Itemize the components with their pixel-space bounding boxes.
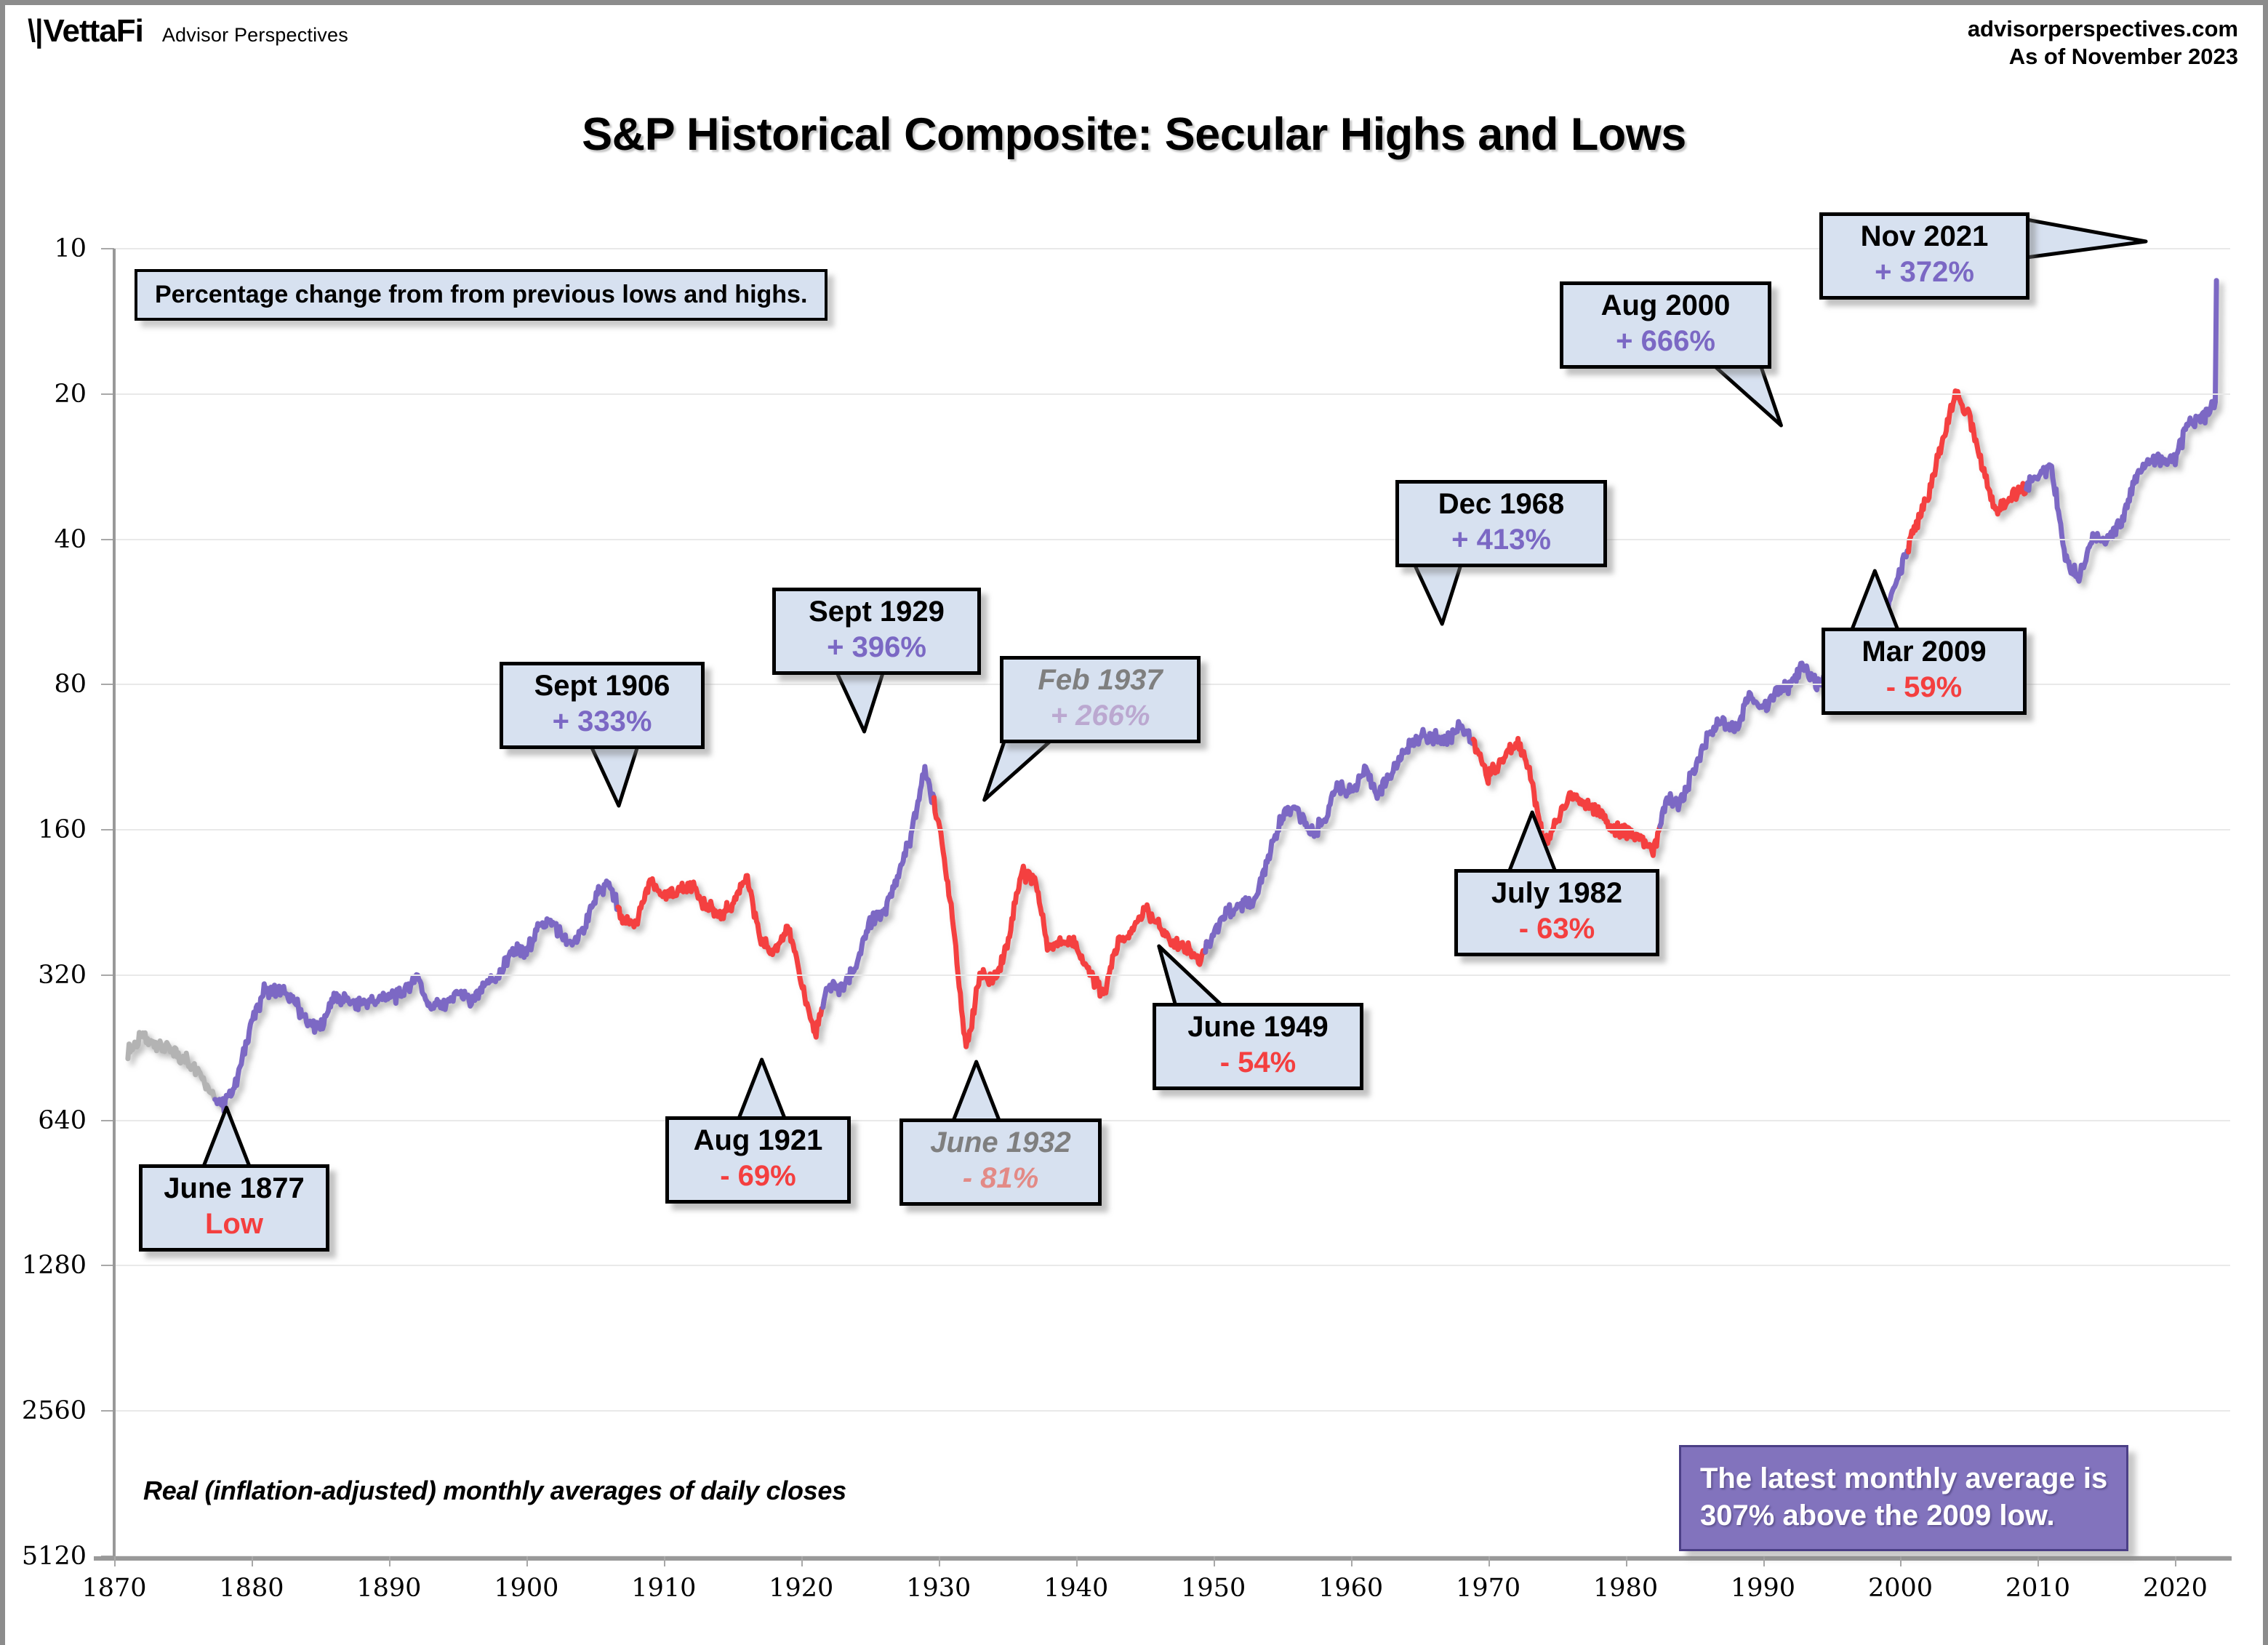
gridline <box>114 393 2230 395</box>
callout-value: + 666% <box>1575 325 1756 358</box>
x-axis-label: 1970 <box>1456 1574 1520 1603</box>
callout-date: Nov 2021 <box>1835 220 2014 253</box>
x-tick <box>664 1556 665 1566</box>
callout-value: + 372% <box>1835 256 2014 289</box>
y-axis-label: 5120 <box>22 1542 87 1571</box>
callout-june-1877: June 1877Low <box>139 1164 329 1252</box>
x-tick <box>114 1556 116 1566</box>
gridline <box>114 1265 2230 1266</box>
x-tick <box>1900 1556 1902 1566</box>
y-axis-label: 40 <box>54 525 87 554</box>
x-tick <box>2175 1556 2176 1566</box>
callout-date: Sept 1929 <box>788 596 966 628</box>
page-title: S&P Historical Composite: Secular Highs … <box>5 108 2263 161</box>
gridline <box>114 1120 2230 1121</box>
x-axis-label: 2000 <box>1868 1574 1933 1603</box>
series-segment-bull <box>1206 721 1475 952</box>
callout-july-1982: July 1982- 63% <box>1454 869 1659 956</box>
x-axis-label: 1960 <box>1318 1574 1383 1603</box>
x-axis-label: 2010 <box>2005 1574 2070 1603</box>
site-url: advisorperspectives.com <box>1968 15 2238 43</box>
legend-note: Percentage change from from previous low… <box>135 269 828 321</box>
callout-value: - 63% <box>1470 913 1644 945</box>
callout-date: June 1877 <box>154 1172 314 1205</box>
x-tick <box>1214 1556 1215 1566</box>
vettafi-logo: \|VettaFi <box>27 15 143 47</box>
x-axis-label: 1920 <box>769 1574 833 1603</box>
y-axis-label: 80 <box>54 670 87 699</box>
x-axis-label: 1950 <box>1181 1574 1246 1603</box>
x-tick <box>1763 1556 1765 1566</box>
x-axis-label: 2020 <box>2143 1574 2208 1603</box>
as-of-date: As of November 2023 <box>1968 43 2238 71</box>
price-series-svg <box>114 249 2230 1556</box>
callout-value: - 54% <box>1168 1046 1348 1079</box>
x-axis-label: 1890 <box>356 1574 421 1603</box>
series-segment-bull <box>2027 281 2216 582</box>
x-axis-label: 1910 <box>631 1574 696 1603</box>
callout-aug-1921: Aug 1921- 69% <box>665 1116 851 1204</box>
callout-date: Dec 1968 <box>1411 488 1592 521</box>
y-axis-label: 160 <box>38 815 87 844</box>
callout-sept-1929: Sept 1929+ 396% <box>772 588 981 675</box>
advisor-perspectives-label: Advisor Perspectives <box>162 24 348 47</box>
y-axis-label: 640 <box>38 1106 87 1135</box>
x-tick <box>1076 1556 1078 1566</box>
y-axis-line <box>113 249 116 1556</box>
callout-date: Aug 1921 <box>681 1124 836 1157</box>
callout-value: - 81% <box>915 1162 1086 1195</box>
callout-mar-2009: Mar 2009- 59% <box>1822 628 2027 715</box>
callout-date: Feb 1937 <box>1015 664 1185 697</box>
gridline <box>114 974 2230 976</box>
x-axis-label: 1980 <box>1593 1574 1658 1603</box>
summary-line-2: 307% above the 2009 low. <box>1700 1497 2107 1534</box>
x-tick <box>939 1556 940 1566</box>
vettafi-logo-text: VettaFi <box>44 13 143 49</box>
callout-value: + 396% <box>788 631 966 664</box>
series-segment-bull <box>215 881 620 1112</box>
gridline <box>114 1410 2230 1412</box>
callout-value: Low <box>154 1208 314 1241</box>
x-tick <box>1626 1556 1627 1566</box>
chart-plot-area: 51202560128064032016080402010 1870188018… <box>114 249 2230 1556</box>
callout-date: Aug 2000 <box>1575 289 1756 322</box>
callout-date: Sept 1906 <box>515 670 689 703</box>
gridline <box>114 829 2230 830</box>
y-axis-label: 10 <box>54 234 87 263</box>
callout-june-1949: June 1949- 54% <box>1153 1003 1363 1090</box>
x-tick <box>526 1556 528 1566</box>
x-axis-label: 1990 <box>1731 1574 1795 1603</box>
series-segment-bear <box>1909 391 2028 552</box>
brand: \|VettaFi Advisor Perspectives <box>27 15 348 47</box>
x-axis-label: 1870 <box>81 1574 146 1603</box>
callout-value: - 69% <box>681 1160 836 1193</box>
summary-box: The latest monthly average is 307% above… <box>1679 1445 2128 1551</box>
x-tick <box>1488 1556 1490 1566</box>
callout-feb-1937: Feb 1937+ 266% <box>1000 656 1201 743</box>
series-segment-bear <box>1473 739 1661 856</box>
source-block: advisorperspectives.com As of November 2… <box>1968 15 2238 71</box>
x-tick <box>1351 1556 1353 1566</box>
callout-june-1932: June 1932- 81% <box>899 1118 1102 1206</box>
callout-date: June 1949 <box>1168 1011 1348 1044</box>
callout-sept-1906: Sept 1906+ 333% <box>500 662 705 749</box>
legend-note-text: Percentage change from from previous low… <box>155 281 807 308</box>
callout-date: Mar 2009 <box>1837 636 2011 668</box>
y-axis-label: 20 <box>54 380 87 409</box>
callout-aug-2000: Aug 2000+ 666% <box>1560 281 1771 369</box>
x-tick <box>801 1556 803 1566</box>
series-segment-bull <box>823 767 935 1007</box>
y-axis-label: 2560 <box>22 1396 87 1425</box>
callout-value: + 266% <box>1015 700 1185 732</box>
callout-value: - 59% <box>1837 671 2011 704</box>
x-tick <box>252 1556 253 1566</box>
callout-value: + 333% <box>515 705 689 738</box>
x-axis-line <box>94 1556 2232 1561</box>
gridline <box>114 539 2230 540</box>
footnote: Real (inflation-adjusted) monthly averag… <box>143 1476 846 1506</box>
callout-value: + 413% <box>1411 524 1592 556</box>
callout-dec-1968: Dec 1968+ 413% <box>1395 480 1607 567</box>
summary-line-1: The latest monthly average is <box>1700 1460 2107 1497</box>
series-segment-bear <box>618 876 824 1037</box>
callout-date: June 1932 <box>915 1126 1086 1159</box>
y-axis-label: 320 <box>38 961 87 990</box>
x-axis-label: 1940 <box>1043 1574 1108 1603</box>
callout-nov-2021: Nov 2021+ 372% <box>1819 212 2029 300</box>
y-axis-label: 1280 <box>22 1251 87 1280</box>
series-segment-pre <box>128 1033 216 1100</box>
x-tick <box>2037 1556 2039 1566</box>
callout-date: July 1982 <box>1470 877 1644 910</box>
x-axis-label: 1880 <box>219 1574 284 1603</box>
x-axis-label: 1930 <box>906 1574 971 1603</box>
x-axis-label: 1900 <box>494 1574 558 1603</box>
x-tick <box>389 1556 390 1566</box>
